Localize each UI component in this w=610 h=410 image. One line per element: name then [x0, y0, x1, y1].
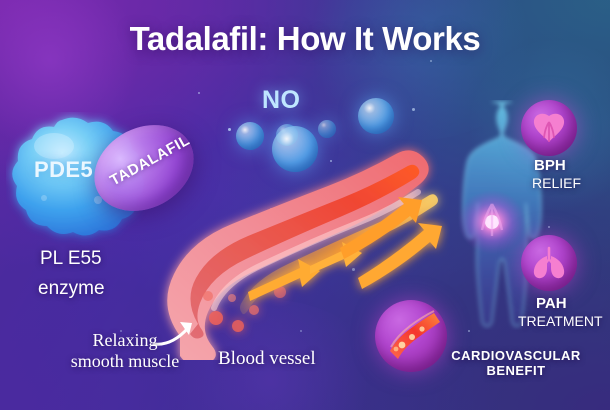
star-particle — [228, 128, 231, 131]
relaxing-smooth-muscle-caption: Relaxing smooth muscle — [30, 330, 220, 372]
pde5-caption-line1: PL E55 — [40, 248, 102, 270]
star-particle — [468, 330, 470, 332]
blood-vessel-caption: Blood vessel — [218, 348, 316, 370]
cardiovascular-label: CARDIOVASCULAR BENEFIT — [430, 348, 602, 379]
bph-label-line1: BPH — [534, 157, 566, 175]
cardiovascular-label-line2: BENEFIT — [486, 363, 545, 378]
page-title: Tadalafil: How It Works — [0, 20, 610, 58]
cardiovascular-label-line1: CARDIOVASCULAR — [451, 348, 581, 363]
infographic-poster: Tadalafil: How It Works NO — [0, 0, 610, 410]
no-molecule — [358, 98, 394, 134]
pde5-blob-label: PDE5 — [34, 157, 93, 183]
pde5-caption-line2: enzyme — [38, 278, 105, 300]
pah-label-line2: TREATMENT — [518, 313, 603, 330]
prostate-icon — [532, 112, 566, 144]
relax-caption-line1: Relaxing — [93, 330, 158, 350]
relax-caption-line2: smooth muscle — [71, 351, 180, 371]
lungs-icon — [531, 246, 567, 280]
star-particle — [412, 108, 415, 111]
star-particle — [198, 92, 200, 94]
no-molecule — [318, 120, 336, 138]
pah-icon-circle[interactable] — [521, 235, 577, 291]
star-particle — [430, 60, 432, 62]
no-label: NO — [262, 86, 301, 115]
bph-icon-circle[interactable] — [521, 100, 577, 156]
bph-label-line2: RELIEF — [532, 175, 581, 192]
pah-label-line1: PAH — [536, 295, 567, 313]
